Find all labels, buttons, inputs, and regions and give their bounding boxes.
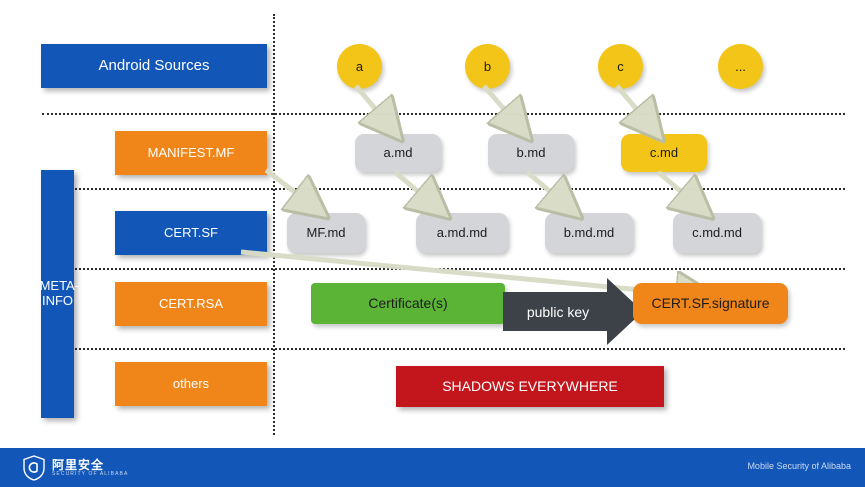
footer-right-text: Mobile Security of Alibaba	[747, 461, 851, 471]
divider-row-2	[42, 188, 845, 190]
source-circle-c-label: c	[617, 59, 624, 74]
digest2-box-a-md-md: a.md.md	[416, 213, 508, 253]
digest2-box-mf-md-label: MF.md	[307, 226, 346, 241]
divider-column	[273, 14, 275, 435]
footer-bar	[0, 448, 865, 487]
entry-cert-rsa-label: CERT.RSA	[159, 297, 223, 312]
entry-cert-sf: CERT.SF	[115, 211, 267, 255]
shadows-everywhere-banner: SHADOWS EVERYWHERE	[396, 366, 664, 407]
certificates-label: Certificate(s)	[368, 295, 447, 311]
cert-sf-signature-box: CERT.SF.signature	[633, 283, 788, 324]
divider-row-1	[42, 113, 845, 115]
shield-logo-icon	[22, 455, 46, 481]
arrow-a-to-amd	[356, 86, 394, 131]
public-key-label: public key	[527, 304, 589, 320]
divider-row-4	[42, 348, 845, 350]
digest-box-a-md-label: a.md	[384, 146, 413, 161]
arrow-cmd-to-cmdmd	[658, 172, 703, 210]
arrow-b-to-bmd	[484, 86, 523, 131]
source-circle-a: a	[337, 44, 382, 89]
source-circle-ellipsis: ...	[718, 44, 763, 89]
digest2-box-a-md-md-label: a.md.md	[437, 226, 488, 241]
digest-box-c-md: c.md	[621, 134, 707, 172]
source-circle-b: b	[465, 44, 510, 89]
digest-box-a-md: a.md	[355, 134, 441, 172]
public-key-label-wrap: public key	[503, 292, 613, 331]
cert-sf-signature-label: CERT.SF.signature	[651, 295, 769, 311]
digest2-box-mf-md: MF.md	[287, 213, 365, 253]
arrow-c-to-cmd	[617, 86, 655, 131]
source-circle-c: c	[598, 44, 643, 89]
android-sources-label: Android Sources	[99, 57, 210, 74]
digest2-box-b-md-md: b.md.md	[545, 213, 633, 253]
source-circle-b-label: b	[484, 59, 491, 74]
entry-others: others	[115, 362, 267, 406]
source-circle-ellipsis-label: ...	[735, 59, 746, 74]
arrow-bmd-to-bmdmd	[527, 172, 572, 210]
certificates-box: Certificate(s)	[311, 283, 505, 324]
slide-canvas: Android Sources /META- INFO MANIFEST.MF …	[0, 0, 865, 487]
digest2-box-b-md-md-label: b.md.md	[564, 226, 615, 241]
source-circle-a-label: a	[356, 59, 363, 74]
digest2-box-c-md-md-label: c.md.md	[692, 226, 742, 241]
entry-manifest-mf-label: MANIFEST.MF	[148, 146, 235, 161]
arrow-amd-to-amdmd	[395, 172, 440, 210]
android-sources-header: Android Sources	[41, 44, 267, 88]
entry-manifest-mf: MANIFEST.MF	[115, 131, 267, 175]
entry-others-label: others	[173, 377, 209, 392]
entry-cert-rsa: CERT.RSA	[115, 282, 267, 326]
entry-cert-sf-label: CERT.SF	[164, 226, 218, 241]
divider-row-3	[42, 268, 845, 270]
meta-info-group: /META- INFO	[41, 170, 74, 418]
shadows-everywhere-label: SHADOWS EVERYWHERE	[442, 378, 618, 394]
digest-box-b-md: b.md	[488, 134, 574, 172]
footer-brand-en: SECURITY OF ALIBABA	[52, 471, 128, 477]
meta-info-label: /META- INFO	[36, 279, 79, 309]
digest-box-c-md-label: c.md	[650, 146, 678, 161]
digest2-box-c-md-md: c.md.md	[673, 213, 761, 253]
digest-box-b-md-label: b.md	[517, 146, 546, 161]
